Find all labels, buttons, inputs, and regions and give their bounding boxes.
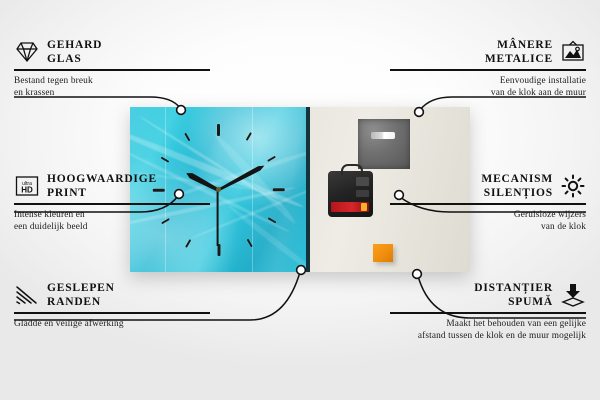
ultra-hd-icon: ultra HD [14, 173, 40, 199]
feature-geslepen-randen: GESLEPEN RANDEN Gladde en veilige afwerk… [14, 281, 210, 330]
feature-desc-line1: Bestand tegen breuk [14, 75, 210, 87]
feature-manere-metalice: MÂNERE METALICE Eenvoudige installatie v… [390, 38, 586, 99]
divider [390, 203, 586, 205]
gear-icon [560, 173, 586, 199]
divider [390, 69, 586, 71]
divider [14, 312, 210, 314]
foam-spacer [373, 244, 393, 262]
picture-hanger-icon [560, 39, 586, 65]
feature-title-line1: MECANISM [481, 172, 553, 186]
diamond-icon [14, 39, 40, 65]
feature-title-line1: GEHARD [47, 38, 102, 52]
feature-desc-line2: afstand tussen de klok en de muur mogeli… [390, 330, 586, 342]
feature-desc-line2: van de klok [390, 221, 586, 233]
minute-hand [217, 163, 265, 192]
feature-title-line2: RANDEN [47, 295, 115, 309]
feature-desc-line2: en krassen [14, 87, 210, 99]
quartz-movement [328, 171, 373, 217]
second-hand [217, 190, 219, 246]
feature-desc-line1: Geruisloze wijzers [390, 209, 586, 221]
feature-hoogwaardige-print: ultra HD HOOGWAARDIGE PRINT Intense kleu… [14, 172, 210, 233]
feature-mecanism-silentios: MECANISM SILENȚIOS Geruisloze wijzers va… [390, 172, 586, 233]
feature-gehard-glas: GEHARD GLAS Bestand tegen breuk en krass… [14, 38, 210, 99]
infographic-stage: GEHARD GLAS Bestand tegen breuk en krass… [0, 0, 600, 400]
feature-desc-line2: van de klok aan de muur [390, 87, 586, 99]
divider [14, 203, 210, 205]
battery [331, 202, 369, 212]
feature-title-line2: SPUMĂ [474, 295, 553, 309]
feature-title-line1: DISTANȚIER [474, 281, 553, 295]
feature-desc-line1: Eenvoudige installatie [390, 75, 586, 87]
press-down-icon [560, 282, 586, 308]
feature-title-line2: PRINT [47, 186, 157, 200]
feature-desc-line1: Gladde en veilige afwerking [14, 318, 210, 330]
metal-hanger-plate [358, 119, 410, 169]
movement-chip [356, 190, 369, 197]
bevelled-edge-icon [14, 282, 40, 308]
feature-title-line1: GESLEPEN [47, 281, 115, 295]
hands-pin [216, 187, 221, 192]
divider [14, 69, 210, 71]
feature-desc-line1: Maakt het behouden van een gelijke [390, 318, 586, 330]
feature-title-line1: MÂNERE [485, 38, 553, 52]
feature-title-line2: METALICE [485, 52, 553, 66]
svg-text:HD: HD [21, 186, 33, 195]
feature-desc-line2: een duidelijk beeld [14, 221, 210, 233]
divider [390, 312, 586, 314]
feature-title-line1: HOOGWAARDIGE [47, 172, 157, 186]
feature-distantier-spuma: DISTANȚIER SPUMĂ Maakt het behouden van … [390, 281, 586, 342]
feature-title-line2: GLAS [47, 52, 102, 66]
movement-bail [341, 164, 363, 175]
feature-desc-line1: Intense kleuren en [14, 209, 210, 221]
feature-title-line2: SILENȚIOS [481, 186, 553, 200]
movement-chip [356, 177, 369, 186]
